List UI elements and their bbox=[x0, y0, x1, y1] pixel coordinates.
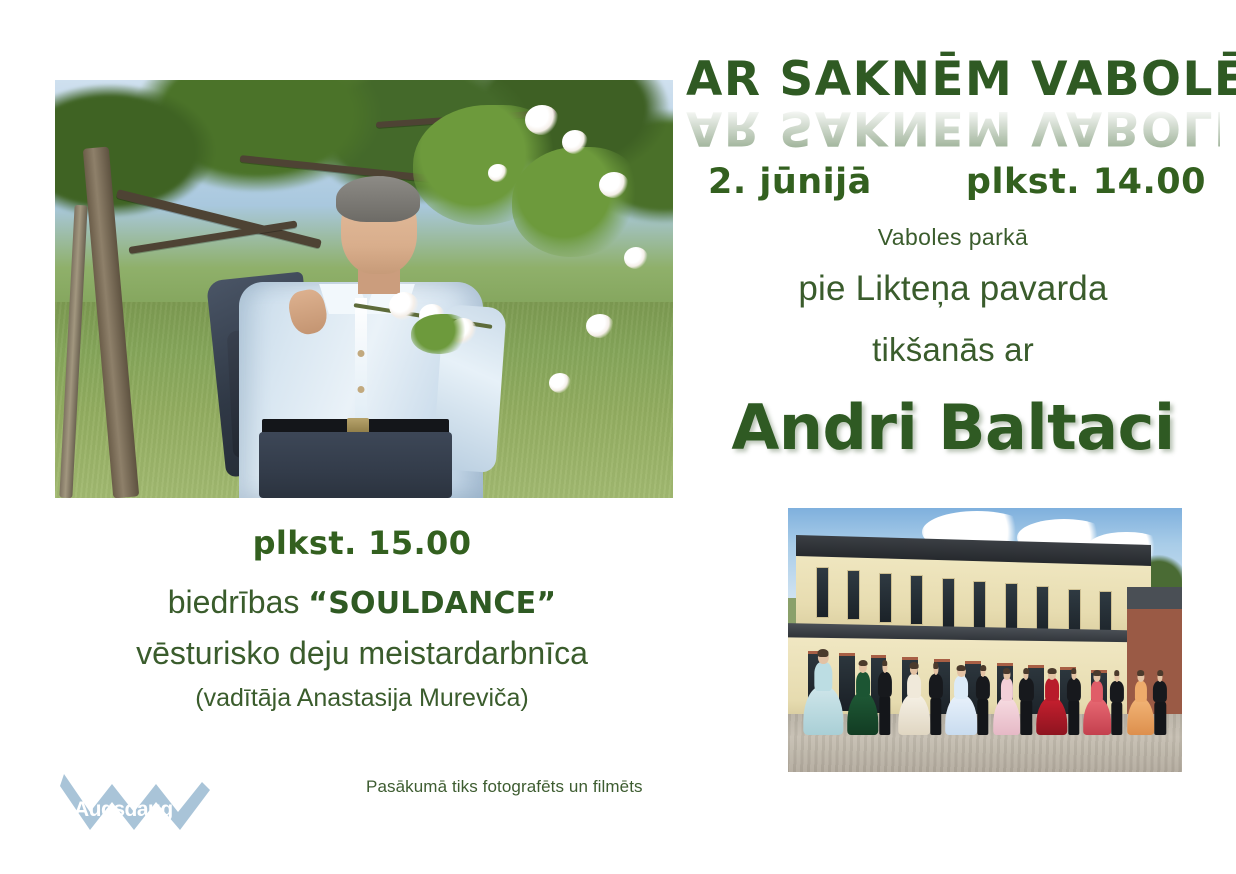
dancer-gentleman bbox=[875, 661, 895, 735]
photo-fg-leaves bbox=[411, 314, 471, 354]
manor-upper-window bbox=[847, 570, 860, 620]
dancer-trousers bbox=[1068, 699, 1079, 735]
dancer-lady bbox=[804, 651, 843, 735]
dancer-hair bbox=[882, 660, 888, 667]
workshop-association: biedrības “SOULDANCE” bbox=[48, 584, 676, 621]
dancer-gentleman bbox=[1150, 672, 1170, 735]
dancer-hair bbox=[1158, 670, 1164, 676]
manor-upper-window bbox=[879, 573, 892, 623]
dancer-torso bbox=[1001, 678, 1013, 700]
manor-upper-window bbox=[942, 578, 955, 628]
dancer-hair bbox=[957, 665, 966, 671]
dancer-gentleman bbox=[1064, 669, 1084, 735]
dancer-torso bbox=[1153, 681, 1167, 703]
dancer-trousers bbox=[1021, 699, 1032, 735]
dancer-torso bbox=[976, 676, 990, 699]
dancer-torso bbox=[1045, 678, 1059, 700]
association-prefix: biedrības bbox=[168, 584, 309, 620]
dancer-hair bbox=[1093, 670, 1101, 676]
dancer-gentleman bbox=[926, 664, 946, 735]
event-headline-block: AR SAKNĒM VABOLĒ AR SAKNĒM VABOLĒ 2. jūn… bbox=[686, 56, 1220, 464]
page-title-reflection: AR SAKNĒM VABOLĒ bbox=[686, 104, 1220, 151]
date-time-row: 2. jūnijā plkst. 14.00 bbox=[686, 162, 1220, 202]
workshop-title: vēsturisko deju meistardarbnīca bbox=[48, 635, 676, 672]
dancer-trousers bbox=[1155, 701, 1166, 735]
dancer-torso bbox=[815, 662, 832, 691]
photo-blossom-7 bbox=[488, 164, 508, 182]
photo-jeans bbox=[259, 432, 452, 498]
photo-blossom-1 bbox=[525, 105, 559, 135]
photo-blossom-3 bbox=[599, 172, 629, 198]
dancer-torso bbox=[1110, 681, 1124, 703]
event-time: plkst. 14.00 bbox=[966, 162, 1206, 202]
dancer-trousers bbox=[977, 698, 988, 735]
poster-canvas: AR SAKNĒM VABOLĒ AR SAKNĒM VABOLĒ 2. jūn… bbox=[0, 0, 1236, 874]
photo-blossom-2 bbox=[562, 130, 588, 154]
photo-person-figure bbox=[222, 180, 506, 498]
photo-blossom-6 bbox=[549, 373, 571, 393]
headline-with-reflection: AR SAKNĒM VABOLĒ AR SAKNĒM VABOLĒ bbox=[686, 56, 1220, 152]
dancer-gentleman bbox=[1017, 669, 1037, 735]
dancer-hair bbox=[1071, 668, 1077, 674]
dancer-torso bbox=[1091, 681, 1103, 703]
photo-fg-blossom-1 bbox=[389, 292, 419, 320]
workshop-leader: (vadītāja Anastasija Mureviča) bbox=[48, 684, 676, 713]
dancer-hair bbox=[1048, 668, 1057, 674]
manor-upper-window bbox=[816, 567, 829, 617]
photo-blossom-branch-foreground bbox=[353, 288, 553, 358]
dancer-hair bbox=[1114, 670, 1120, 676]
event-place: pie Likteņa pavarda bbox=[686, 269, 1220, 309]
logo-wordmark-knockout: Augsdaug bbox=[74, 798, 173, 821]
workshop-time: plkst. 15.00 bbox=[48, 524, 676, 562]
manor-upper-window bbox=[910, 575, 923, 625]
dancer-hair bbox=[980, 665, 986, 671]
dancer-torso bbox=[929, 674, 943, 698]
dancer-trousers bbox=[879, 695, 890, 735]
manor-upper-window bbox=[1005, 583, 1018, 633]
augsdaugava-logo-icon: Augsdaug bbox=[60, 768, 220, 840]
dancer-hair bbox=[933, 662, 939, 668]
guest-name: Andri Baltaci bbox=[686, 391, 1220, 464]
photo-blossom-4 bbox=[624, 247, 648, 269]
manor-upper-window bbox=[973, 581, 986, 631]
photo-hair bbox=[336, 176, 420, 222]
dancer-gown bbox=[804, 686, 843, 735]
workshop-block: plkst. 15.00 biedrības “SOULDANCE” vēstu… bbox=[48, 524, 676, 713]
dancer-torso bbox=[877, 672, 891, 697]
dancer-trousers bbox=[1111, 701, 1122, 735]
event-date: 2. jūnijā bbox=[708, 162, 872, 202]
dancer-torso bbox=[907, 674, 921, 698]
dancer-hair bbox=[910, 662, 919, 668]
photo-man-under-apple-tree bbox=[55, 80, 673, 498]
meeting-label: tikšanās ar bbox=[686, 331, 1220, 369]
dancer-torso bbox=[856, 672, 870, 697]
dancer-hair bbox=[858, 660, 867, 667]
dancer-gentleman bbox=[973, 666, 993, 735]
photo-consent-note: Pasākumā tiks fotografēts un filmēts bbox=[366, 777, 643, 797]
association-name: “SOULDANCE” bbox=[308, 586, 556, 621]
dancer-trousers bbox=[930, 697, 941, 735]
dancer-hair bbox=[818, 649, 829, 657]
dancer-hair bbox=[1024, 668, 1030, 674]
dancer-hair bbox=[1003, 668, 1011, 674]
dancer-torso bbox=[1135, 681, 1147, 703]
dancer-hair bbox=[1137, 670, 1145, 676]
dancer-torso bbox=[1067, 678, 1081, 700]
photo-shirt-button-2 bbox=[358, 386, 365, 393]
dancer-torso bbox=[1019, 678, 1033, 700]
event-venue: Vaboles parkā bbox=[686, 224, 1220, 251]
dancer-gentleman bbox=[1107, 672, 1127, 735]
photo-historical-dancers-at-manor bbox=[788, 508, 1182, 772]
dancer-torso bbox=[954, 676, 968, 699]
augsdaugava-logo: Augsdaug bbox=[60, 768, 220, 840]
page-title: AR SAKNĒM VABOLĒ bbox=[686, 56, 1220, 103]
